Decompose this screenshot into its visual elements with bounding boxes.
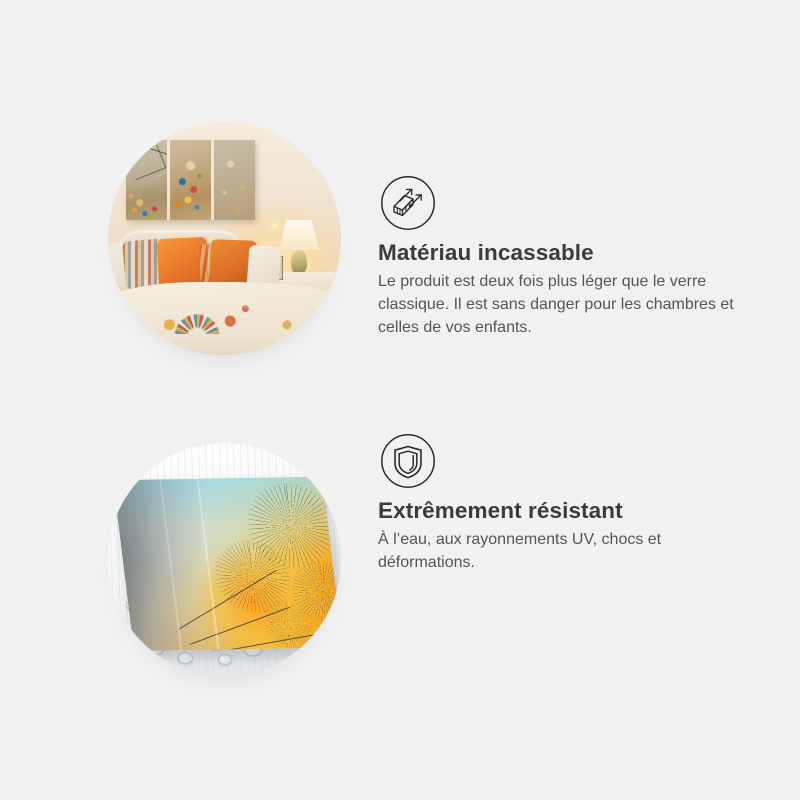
feature-heading: Matériau incassable: [378, 240, 594, 266]
glass-panel-scene: [108, 443, 341, 676]
art-panel-right: [214, 140, 255, 220]
dandelion-glass-panel-photo: [108, 443, 341, 676]
feature-page: Matériau incassable Le produit est deux …: [0, 0, 800, 800]
feature-description: Le produit est deux fois plus léger que …: [378, 270, 746, 339]
bed-frame: [128, 334, 328, 355]
photo-circle-mask: [108, 122, 341, 355]
art-panel-left: [126, 140, 167, 220]
bedroom-scene: [108, 122, 341, 355]
wall-art-triptych: [126, 140, 255, 220]
photo-circle-mask: [108, 443, 341, 676]
feature-block-unbreakable-material: Matériau incassable Le produit est deux …: [0, 100, 800, 400]
water-droplet: [218, 654, 232, 665]
feature-block-extremely-resistant: Extrêmement résistant À l’eau, aux rayon…: [0, 420, 800, 720]
lamp-base: [291, 250, 307, 274]
feature-heading: Extrêmement résistant: [378, 498, 623, 524]
printed-glass-panel: [113, 477, 341, 651]
feature-description: À l’eau, aux rayonnements UV, chocs et d…: [378, 528, 746, 574]
shield-icon: [380, 433, 436, 489]
water-droplet: [178, 652, 193, 664]
art-line-detail: [127, 145, 167, 181]
bedroom-triptych-photo: [108, 122, 341, 355]
panel-shading: [113, 477, 341, 651]
bendable-layered-material-icon: [380, 175, 436, 231]
art-panel-center: [170, 140, 211, 220]
wall-light-dot: [273, 224, 277, 228]
